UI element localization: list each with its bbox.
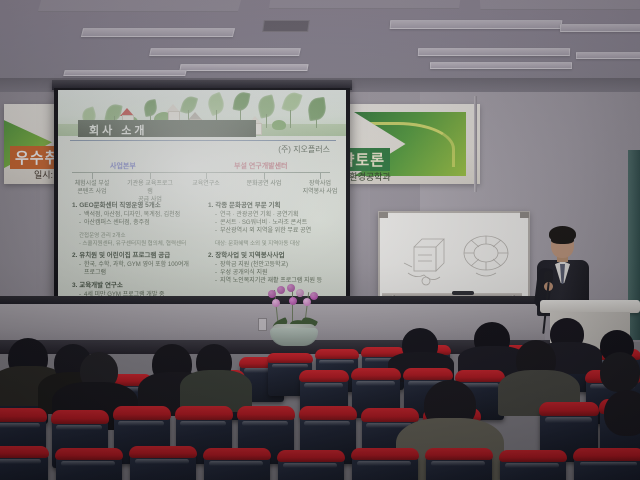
ceiling-light-fixture [179, 64, 308, 71]
ceiling-light-fixture [81, 28, 235, 37]
auditorium-seat[interactable] [0, 450, 48, 480]
whiteboard-corner [520, 212, 529, 218]
ceiling-light-fixture [149, 48, 301, 56]
org-label-business-div: 사업본부 [110, 161, 136, 171]
org-connector-tick [150, 172, 151, 179]
whiteboard-corner [379, 212, 388, 218]
org-connector-tick [320, 172, 321, 179]
auditorium-seat[interactable] [278, 454, 344, 480]
org-node: 기관용 교육프로그램공급 사업 [125, 180, 175, 204]
auditorium-seat[interactable] [500, 454, 566, 480]
slide-body: (주) 지오플러스 사업본부 부설 연구개발센터 체험시설 부설콘텐츠 사업 기… [58, 142, 346, 296]
slide-left-column: 1. GEO문화센터 직영운영 5개소백석점, 아산점, 디자인, 목계점, 김… [72, 202, 196, 296]
org-connector-tick [264, 172, 265, 179]
whiteboard[interactable] [378, 211, 530, 299]
projection-screen-surface: 회사 소개 (주) 지오플러스 사업본부 부설 연구개발센터 체험시설 부설콘텐… [58, 90, 346, 296]
org-label-rnd-center: 부설 연구개발센터 [234, 161, 287, 171]
auditorium-seat[interactable] [130, 450, 196, 480]
lecture-hall-photo: 200 수회 우수취업 공전략토론 일시: 2009. 대학교 환경공학과 [0, 0, 640, 480]
ceiling-light-fixture [63, 70, 186, 76]
org-connector-tick [206, 172, 207, 179]
ceiling-tile [269, 0, 461, 9]
banner-support-pole [474, 96, 477, 192]
slide-company-name: (주) 지오플러스 [278, 144, 330, 155]
org-node: 교육연구소 [181, 180, 231, 188]
leaf-icon [281, 90, 302, 114]
auditorium-seat[interactable] [204, 452, 270, 480]
ceiling-light-fixture [576, 52, 640, 59]
auditorium-seat[interactable] [426, 452, 492, 480]
ceiling-light-fixture [430, 62, 572, 69]
whiteboard-marker[interactable] [452, 291, 474, 295]
ceiling-light-fixture [390, 20, 563, 29]
slide-title: 회사 소개 [89, 122, 148, 138]
orchid-flower [272, 299, 280, 307]
ceiling-tile [38, 0, 243, 12]
ceiling-light-fixture [560, 24, 640, 32]
orchid-flower [303, 298, 311, 306]
org-node: 문화공연 사업 [239, 180, 289, 188]
auditorium-seat[interactable] [56, 452, 122, 480]
projection-screen-frame: 회사 소개 (주) 지오플러스 사업본부 부설 연구개발센터 체험시설 부설콘텐… [54, 88, 350, 300]
slide-divider [70, 140, 336, 141]
whiteboard-sketch-left [402, 233, 460, 289]
leaf-icon [307, 97, 328, 121]
slide-right-column: 1. 각종 문화공연 부문 기획연극 · 관광공연 기획 · 공연기획콘서트 ·… [208, 202, 336, 290]
org-node: 체험시설 부설콘텐츠 사업 [67, 180, 117, 196]
ceiling-tile [479, 0, 640, 10]
audience-head [604, 390, 640, 436]
auditorium-seat[interactable] [574, 452, 640, 480]
orchid-flower [289, 297, 297, 305]
org-node: 장학사업지역봉사 사업 [295, 180, 345, 196]
org-connector-tick [92, 172, 93, 179]
audience-head [600, 352, 640, 392]
bush-icon [272, 120, 286, 130]
presenter-hair [549, 226, 576, 242]
whiteboard-sketch-right [458, 229, 516, 285]
slide-title-bar: 회사 소개 [78, 120, 256, 137]
leaf-icon [232, 91, 250, 112]
org-connector-line [72, 172, 330, 173]
auditorium-seat[interactable] [352, 452, 418, 480]
ceiling-light-fixture [418, 48, 570, 56]
ceiling-air-vent [262, 20, 310, 32]
orchid-pot-wrap [270, 328, 318, 346]
